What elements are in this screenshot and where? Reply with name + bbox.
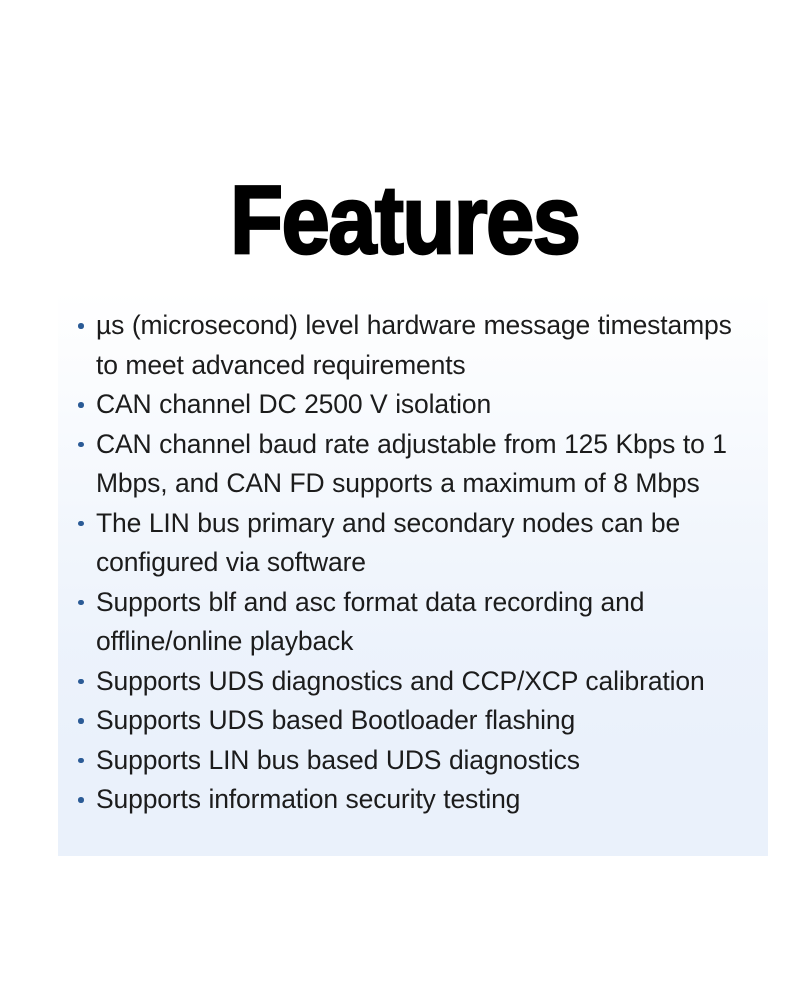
feature-text: Supports UDS diagnostics and CCP/XCP cal… (96, 666, 705, 696)
feature-text: CAN channel baud rate adjustable from 12… (96, 429, 727, 499)
feature-list-item: CAN channel DC 2500 V isolation (78, 385, 738, 425)
feature-list-item: The LIN bus primary and secondary nodes … (78, 504, 738, 583)
feature-list-item: Supports UDS based Bootloader flashing (78, 701, 738, 741)
feature-text: CAN channel DC 2500 V isolation (96, 389, 491, 419)
feature-list-item: Supports information security testing (78, 780, 738, 820)
features-list: µs (microsecond) level hardware message … (78, 306, 738, 820)
page-title: Features (230, 176, 579, 265)
feature-text: Supports UDS based Bootloader flashing (96, 705, 575, 735)
feature-text: Supports information security testing (96, 784, 520, 814)
feature-list-item: µs (microsecond) level hardware message … (78, 306, 738, 385)
feature-list-item: CAN channel baud rate adjustable from 12… (78, 425, 738, 504)
feature-text: µs (microsecond) level hardware message … (96, 310, 732, 380)
bullet-dot-icon (78, 758, 84, 764)
bullet-dot-icon (78, 600, 84, 606)
feature-text: The LIN bus primary and secondary nodes … (96, 508, 680, 578)
bullet-dot-icon (78, 323, 84, 329)
bullet-dot-icon (78, 442, 84, 448)
bullet-dot-icon (78, 402, 84, 408)
bullet-dot-icon (78, 679, 84, 685)
feature-list-item: Supports LIN bus based UDS diagnostics (78, 741, 738, 781)
feature-text: Supports LIN bus based UDS diagnostics (96, 745, 580, 775)
feature-list-item: Supports UDS diagnostics and CCP/XCP cal… (78, 662, 738, 702)
feature-list-item: Supports blf and asc format data recordi… (78, 583, 738, 662)
page-title-container: Features (0, 178, 810, 264)
feature-text: Supports blf and asc format data recordi… (96, 587, 644, 657)
bullet-dot-icon (78, 797, 84, 803)
bullet-dot-icon (78, 521, 84, 527)
features-slide: Features µs (microsecond) level hardware… (0, 0, 810, 990)
bullet-dot-icon (78, 718, 84, 724)
